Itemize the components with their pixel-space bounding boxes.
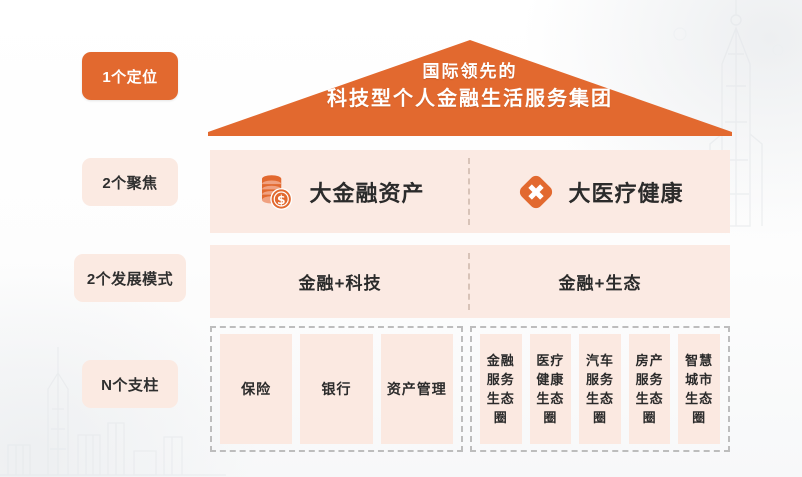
pillar-line: 金融	[480, 351, 522, 370]
focus-label-financial-assets: 大金融资产	[309, 176, 424, 208]
pillar-auto-service-ecosystem[interactable]: 汽车 服务 生态圈	[579, 334, 621, 444]
pillar-real-estate-ecosystem[interactable]: 房产 服务 生态圈	[629, 334, 671, 444]
pillar-line: 生态圈	[480, 389, 522, 427]
pillar-line: 智慧	[678, 351, 720, 370]
pillar-line: 资产管理	[387, 379, 447, 399]
mode-band: 金融+科技 金融+生态	[210, 245, 730, 318]
focus-band: $ 大金融资产 大医疗健康	[210, 150, 730, 233]
focus-label-healthcare: 大医疗健康	[568, 176, 683, 208]
medical-cross-icon	[516, 172, 556, 212]
pillar-row: 保险 银行 资产管理 金融 服务	[210, 326, 730, 452]
focus-cell-healthcare[interactable]: 大医疗健康	[470, 150, 730, 233]
pillar-line: 城市	[678, 370, 720, 389]
pillar-bank[interactable]: 银行	[300, 334, 372, 444]
pillar-line: 生态圈	[530, 389, 572, 427]
pillar-line: 银行	[321, 379, 351, 399]
stage-label-column: 1个定位 2个聚焦 2个发展模式 N个支柱	[0, 0, 210, 477]
mode-cell-fintech[interactable]: 金融+科技	[210, 245, 470, 318]
mode-cell-ecology[interactable]: 金融+生态	[470, 245, 730, 318]
stage-label-positioning[interactable]: 1个定位	[82, 52, 178, 100]
stage-label-pillars[interactable]: N个支柱	[82, 360, 178, 408]
pillar-line: 健康	[530, 370, 572, 389]
roof-title: 国际领先的 科技型个人金融生活服务集团	[208, 60, 732, 113]
house-diagram: 国际领先的 科技型个人金融生活服务集团	[208, 40, 732, 460]
pillar-line: 服务	[629, 370, 671, 389]
focus-cell-financial-assets[interactable]: $ 大金融资产	[210, 150, 470, 233]
pillar-line: 医疗	[530, 351, 572, 370]
pillar-line: 汽车	[579, 351, 621, 370]
coin-stack-icon: $	[255, 171, 297, 213]
mode-label-ecology: 金融+生态	[559, 269, 642, 294]
pillar-line: 房产	[629, 351, 671, 370]
pillar-line: 生态圈	[629, 389, 671, 427]
stage-label-focus[interactable]: 2个聚焦	[82, 158, 178, 206]
pillar-line: 服务	[480, 370, 522, 389]
pillar-line: 生态圈	[678, 389, 720, 427]
pillar-asset-management[interactable]: 资产管理	[381, 334, 453, 444]
pillar-smart-city-ecosystem[interactable]: 智慧 城市 生态圈	[678, 334, 720, 444]
pillar-line: 服务	[579, 370, 621, 389]
diagram-canvas: 1个定位 2个聚焦 2个发展模式 N个支柱 国际领先的 科技型个人金融生活服务集…	[0, 0, 802, 477]
mode-label-fintech: 金融+科技	[299, 269, 382, 294]
roof-title-line1: 国际领先的	[208, 60, 732, 84]
roof-shape: 国际领先的 科技型个人金融生活服务集团	[208, 40, 732, 136]
pillar-line: 保险	[241, 379, 271, 399]
svg-text:$: $	[277, 192, 286, 206]
pillar-financial-service-ecosystem[interactable]: 金融 服务 生态圈	[480, 334, 522, 444]
pillar-group-ecosystem: 金融 服务 生态圈 医疗 健康 生态圈 汽车 服务	[470, 326, 730, 452]
pillar-health-ecosystem[interactable]: 医疗 健康 生态圈	[530, 334, 572, 444]
pillar-line: 生态圈	[579, 389, 621, 427]
roof-title-line2: 科技型个人金融生活服务集团	[208, 85, 732, 113]
pillar-insurance[interactable]: 保险	[220, 334, 292, 444]
pillar-group-financial: 保险 银行 资产管理	[210, 326, 463, 452]
stage-label-development-mode[interactable]: 2个发展模式	[74, 254, 186, 302]
